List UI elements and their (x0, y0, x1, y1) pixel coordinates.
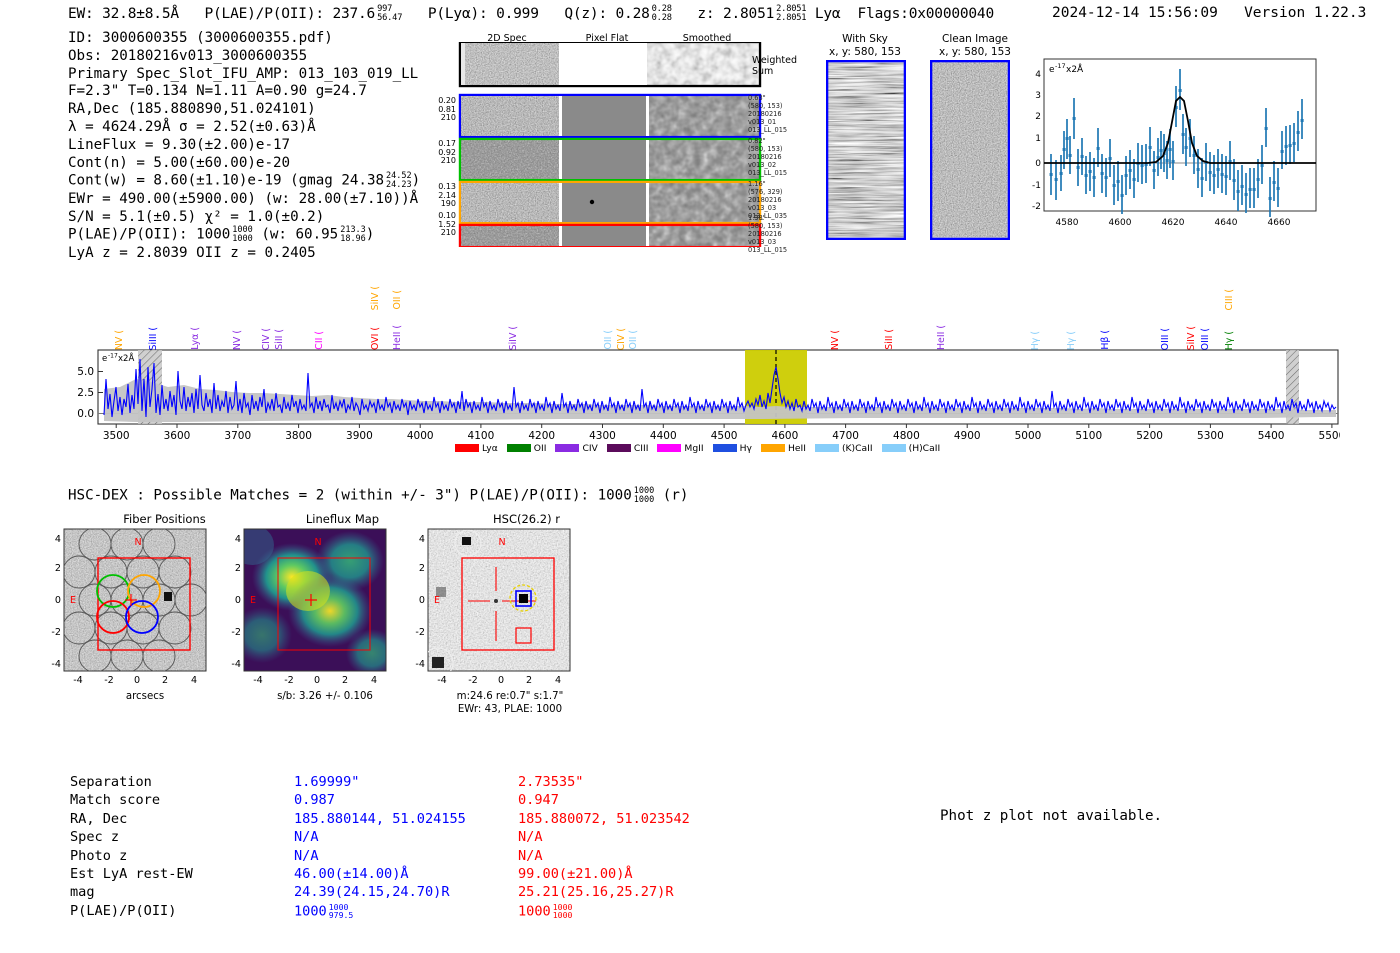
spectrum-xtick: 3800 (285, 430, 312, 442)
info-radec: RA,Dec (185.880890,51.024101) (68, 101, 420, 119)
svg-text:e: e (102, 354, 107, 364)
hsc-r-caption: m:24.6 re:0.7" s:1.7" EWr: 43, PLAE: 100… (415, 690, 605, 716)
hsc-dex-heading: HSC-DEX : Possible Matches = 2 (within +… (68, 487, 688, 504)
match-cell: 24.39(24.15,24.70)R (294, 884, 516, 900)
match-cell: 185.880144, 51.024155 (294, 811, 516, 827)
spectrum-xtick: 4600 (772, 430, 799, 442)
svg-text:-4: -4 (437, 675, 447, 685)
spectrum-xtick: 3500 (103, 430, 130, 442)
svg-text:2: 2 (162, 675, 168, 685)
emission-line-label: SiII ( (274, 329, 285, 350)
spectrum-xtick: 3700 (224, 430, 251, 442)
svg-text:0: 0 (134, 675, 140, 685)
spectrum-xtick: 4900 (954, 430, 981, 442)
cutout-clean-image (930, 60, 1010, 240)
table-row: mag24.39(24.15,24.70)R25.21(25.16,25.27)… (70, 884, 690, 900)
legend-item: Hγ (713, 443, 752, 454)
info-cont-w-text: Cont(w) = 8.60(±1.10)e-19 (gmag 24.38 (68, 173, 384, 189)
hsc-n-label: N (498, 537, 505, 548)
svg-text:4620: 4620 (1162, 218, 1185, 228)
svg-text:2: 2 (1035, 112, 1041, 122)
legend-label: (H)CaII (909, 443, 941, 454)
strip-right-labels-0: 0.63" (580, 153) 20180216 v013_01 013_LL… (748, 94, 787, 134)
legend-item: OII (507, 443, 547, 454)
header-plae-value: 237.6 (332, 6, 375, 22)
match-row-label: Separation (70, 774, 292, 790)
spectrum-xtick: 5100 (1075, 430, 1102, 442)
legend-label: CIV (582, 443, 597, 454)
svg-text:-4: -4 (73, 675, 83, 685)
spectrum-xtick: 4200 (528, 430, 555, 442)
info-ewr: EWr = 490.00(±5900.00) (w: 28.00(±7.10))… (68, 191, 420, 209)
match-cell: 25.21(25.16,25.27)R (518, 884, 690, 900)
match-plae-range: 1000979.5 (329, 903, 354, 920)
header-plae-label: P(LAE)/P(OII): (204, 6, 323, 22)
spectrum-xtick: 5300 (1197, 430, 1224, 442)
svg-text:4: 4 (191, 675, 197, 685)
svg-text:0: 0 (1035, 159, 1041, 169)
full-spectrum-plot: e -17 x2Å 5.02.50.0 35003600370038003900… (60, 349, 1340, 449)
strip-row-0 (460, 95, 760, 137)
match-cell: N/A (518, 829, 690, 845)
header-plae-lo: 56.47 (377, 13, 402, 23)
lineflux-map-panel: N E 420 -2-4 -4-20 24 (222, 525, 422, 685)
emission-line-label: SiIV ( (1186, 326, 1197, 350)
info-plae-prefix: P(LAE)/P(OII): 1000 (68, 227, 230, 243)
legend-label: MgII (684, 443, 703, 454)
hsc-r-image-panel: N E 420 -2-4 -4-20 24 (406, 525, 606, 685)
svg-text:0.0: 0.0 (77, 408, 94, 420)
svg-text:-2: -2 (104, 675, 114, 685)
lineflux-map-caption: s/b: 3.26 +/- 0.106 (230, 690, 420, 703)
info-id: ID: 3000600355 (3000600355.pdf) (68, 30, 420, 48)
fiber-n-label: N (134, 537, 141, 548)
svg-text:-17: -17 (1055, 62, 1066, 70)
strip-left-labels-2: 0.13 2.14 190 (418, 183, 456, 209)
svg-text:x2Å: x2Å (1066, 63, 1084, 75)
legend-swatch (882, 444, 906, 452)
spectrum-xtick: 5400 (1258, 430, 1285, 442)
match-cell: 0.947 (518, 792, 690, 808)
spectrum-xtick: 5500 (1319, 430, 1340, 442)
table-row: Est LyA rest-EW46.00(±14.00)Å99.00(±21.0… (70, 866, 690, 882)
info-plae-suffix: ) (366, 227, 375, 243)
info-lineflux: LineFlux = 9.30(±2.00)e-17 (68, 137, 420, 155)
info-cont-n: Cont(n) = 5.00(±60.00)e-20 (68, 155, 420, 173)
svg-text:0: 0 (235, 595, 241, 606)
emission-line-label: Hγ ( (1224, 331, 1235, 350)
legend-item: MgII (657, 443, 703, 454)
panel-title-fiber-positions: Fiber Positions (62, 512, 267, 526)
hsc-e-label: E (434, 595, 440, 606)
match-plae-value: 1000 (294, 903, 327, 919)
match-row-label: Est LyA rest-EW (70, 866, 292, 882)
match-cell: 10001000979.5 (294, 903, 516, 920)
legend-label: CIII (634, 443, 649, 454)
fiber-e-label: E (70, 595, 76, 606)
emission-line-label: HeII ( (392, 325, 403, 350)
strip-right-labels-1: 0.82" (580, 153) 20180216 v013_02 013_LL… (748, 137, 787, 177)
strip-row-3 (460, 225, 760, 247)
legend-item: (H)CaII (882, 443, 941, 454)
emission-line-label: Lyα ( (190, 327, 201, 350)
info-redshifts: LyA z = 2.8039 OII z = 0.2405 (68, 245, 420, 263)
weighted-sum-label: Weighted Sum (752, 55, 797, 77)
table-row: Separation1.69999"2.73535" (70, 774, 690, 790)
header-plya: P(Lyα): 0.999 (428, 6, 539, 22)
legend-label: Hγ (740, 443, 752, 454)
table-row: Photo zN/AN/A (70, 848, 690, 864)
photz-plot-message: Phot z plot not available. (940, 808, 1162, 824)
fiber-positions-caption: arcsecs (50, 690, 240, 703)
weighted-sum-line1: Weighted (752, 55, 797, 66)
spectrum-xtick: 4000 (407, 430, 434, 442)
match-cell: N/A (294, 829, 516, 845)
header-qz-value: 0.28 (616, 6, 650, 22)
emission-line-label: NV ( (830, 330, 841, 350)
info-cont-w-lo: 24.23 (386, 180, 412, 190)
emission-line-label: Hγ ( (1066, 331, 1077, 350)
match-row-label: Spec z (70, 829, 292, 845)
match-cell: 2.73535" (518, 774, 690, 790)
svg-text:0: 0 (55, 595, 61, 606)
legend-swatch (713, 444, 737, 452)
match-row-label: P(LAE)/P(OII) (70, 903, 292, 920)
strip-left-labels-0: 0.20 0.81 210 (418, 97, 456, 123)
hsc-heading-lo: 1000 (634, 495, 654, 505)
emission-line-label: OIII ( (1200, 328, 1211, 350)
legend-swatch (555, 444, 579, 452)
match-row-label: Photo z (70, 848, 292, 864)
match-cell: 185.880072, 51.023542 (518, 811, 690, 827)
svg-text:4: 4 (55, 534, 61, 545)
spectrum-xtick: 4300 (589, 430, 616, 442)
emission-line-label: HeII ( (936, 325, 947, 350)
emission-line-label: SiIII ( (148, 327, 159, 351)
match-cell: 46.00(±14.00)Å (294, 866, 516, 882)
legend-item: CIV (555, 443, 597, 454)
emission-line-label: OII ( (628, 330, 639, 350)
emission-line-label: SiIV ( (370, 286, 381, 310)
match-cell: N/A (518, 848, 690, 864)
emission-line-label: OIII ( (1160, 328, 1171, 350)
svg-text:-17: -17 (108, 353, 118, 360)
svg-text:3: 3 (1035, 91, 1041, 101)
cutout-title-clean-image: Clean Image x, y: 580, 153 (925, 33, 1025, 58)
svg-text:0: 0 (314, 675, 320, 685)
legend-label: HeII (788, 443, 806, 454)
info-plae-mid: (w: 60.95 (261, 227, 338, 243)
fiber-positions-panel: N E 420 -2-4 -4-20 24 (42, 525, 242, 685)
source-info-block: ID: 3000600355 (3000600355.pdf) Obs: 201… (68, 30, 420, 263)
panel-title-lineflux-map: Lineflux Map (240, 512, 445, 526)
header-qz-label: Q(z): (564, 6, 607, 22)
spectrum-xtick: 4800 (893, 430, 920, 442)
strip-row-weighted-sum (460, 42, 760, 86)
svg-text:2: 2 (526, 675, 532, 685)
svg-text:-2: -2 (1032, 202, 1041, 212)
svg-text:0: 0 (419, 595, 425, 606)
info-sn: S/N = 5.1(±0.5) χ² = 1.0(±0.2) (68, 209, 420, 227)
emission-line-label: OVI ( (370, 327, 381, 350)
legend-label: Lyα (482, 443, 498, 454)
svg-text:2: 2 (235, 563, 241, 574)
spectrum-xtick: 3900 (346, 430, 373, 442)
emission-line-legend: LyαOIICIVCIIIMgIIHγHeII(K)CaII(H)CaII (455, 443, 940, 454)
svg-text:-1: -1 (1032, 181, 1041, 191)
match-row-label: mag (70, 884, 292, 900)
info-cont-w: Cont(w) = 8.60(±1.10)e-19 (gmag 24.3824.… (68, 172, 420, 190)
match-cell: 0.987 (294, 792, 516, 808)
spectrum-xtick: 3600 (164, 430, 191, 442)
svg-text:0: 0 (498, 675, 504, 685)
svg-text:-2: -2 (231, 627, 241, 638)
svg-text:x2Å: x2Å (118, 352, 134, 364)
match-table: Separation1.69999"2.73535"Match score0.9… (68, 772, 692, 922)
header-flags: Flags:0x00000040 (858, 6, 994, 22)
legend-swatch (455, 444, 479, 452)
strip-left-labels-3: 0.10 1.52 210 (418, 212, 456, 238)
emission-line-label: CII ( (314, 331, 325, 350)
info-plae: P(LAE)/P(OII): 100010001000 (w: 60.95213… (68, 226, 420, 244)
lineflux-n-label: N (314, 537, 321, 548)
header-qz-lo: 0.28 (652, 13, 672, 23)
match-plae-range: 10001000 (553, 903, 573, 920)
svg-text:-4: -4 (415, 659, 425, 670)
header-ew: EW: 32.8±8.5Å (68, 6, 179, 22)
emission-line-label: NV ( (232, 330, 243, 350)
legend-item: CIII (607, 443, 649, 454)
svg-text:5.0: 5.0 (77, 366, 94, 378)
spectrum-xtick: 4500 (711, 430, 738, 442)
header-z-label: z: (697, 6, 714, 22)
svg-text:4: 4 (1035, 70, 1041, 80)
header-summary-line: EW: 32.8±8.5Å P(LAE)/P(OII): 237.699756.… (68, 5, 994, 23)
zoom-spectrum-plot: e -17 x2Å 432 10-1-2 458046004620 464046… (1030, 55, 1330, 255)
legend-item: (K)CaII (815, 443, 873, 454)
header-timestamp-version: 2024-12-14 15:56:09 Version 1.22.3 (1052, 5, 1366, 21)
emission-line-label: Hβ ( (1100, 330, 1111, 350)
svg-text:4: 4 (419, 534, 425, 545)
table-row: Spec zN/AN/A (70, 829, 690, 845)
header-z-lo: 2.8051 (776, 13, 806, 23)
svg-text:2: 2 (55, 563, 61, 574)
emission-line-label: OII ( (392, 290, 403, 310)
spectrum-xtick: 4400 (650, 430, 677, 442)
match-cell: 99.00(±21.00)Å (518, 866, 690, 882)
emission-line-label: CIV ( (261, 328, 272, 350)
svg-text:4: 4 (235, 534, 241, 545)
emission-line-label: SiIV ( (508, 326, 519, 350)
svg-text:2: 2 (419, 563, 425, 574)
weighted-sum-line2: Sum (752, 66, 797, 77)
svg-text:-4: -4 (231, 659, 241, 670)
svg-text:4640: 4640 (1215, 218, 1238, 228)
strip-right-labels-3: 1.38" (580, 153) 20180216 v013_03 013_LL… (748, 214, 787, 254)
cutout-with-sky-image (826, 60, 906, 240)
legend-swatch (507, 444, 531, 452)
legend-item: HeII (761, 443, 806, 454)
svg-text:-4: -4 (253, 675, 263, 685)
legend-label: OII (534, 443, 547, 454)
hsc-heading-suffix: (r) (663, 488, 689, 504)
info-seeing: F=2.3" T=0.134 N=1.11 A=0.90 g=24.7 (68, 83, 420, 101)
svg-text:4: 4 (555, 675, 561, 685)
match-cell: N/A (294, 848, 516, 864)
header-z-type: Lyα (815, 6, 841, 22)
info-lambda: λ = 4624.29Å σ = 2.52(±0.63)Å (68, 119, 420, 137)
strip-left-labels-1: 0.17 0.92 210 (418, 140, 456, 166)
match-cell: 1.69999" (294, 774, 516, 790)
spectrum-xtick: 5200 (1136, 430, 1163, 442)
svg-text:4660: 4660 (1268, 218, 1291, 228)
match-row-label: Match score (70, 792, 292, 808)
spectrum-xtick: 4100 (468, 430, 495, 442)
legend-swatch (761, 444, 785, 452)
legend-label: (K)CaII (842, 443, 873, 454)
legend-swatch (815, 444, 839, 452)
svg-text:-2: -2 (51, 627, 61, 638)
info-plae-w-lo: 18.96 (340, 234, 366, 244)
emission-line-label: CIII ( (1224, 289, 1235, 310)
match-row-label: RA, Dec (70, 811, 292, 827)
lineflux-e-label: E (250, 595, 256, 606)
table-row: P(LAE)/P(OII)10001000979.5100010001000 (70, 903, 690, 920)
emission-line-label: CIV ( (616, 328, 627, 350)
header-z-value: 2.8051 (723, 6, 774, 22)
legend-item: Lyα (455, 443, 498, 454)
emission-line-label: Hγ ( (1030, 331, 1041, 350)
match-cell: 100010001000 (518, 903, 690, 920)
cutout-title-with-sky: With Sky x, y: 580, 153 (820, 33, 910, 58)
header-version: Version 1.22.3 (1244, 5, 1366, 21)
spectrum-xtick: 5000 (1015, 430, 1042, 442)
legend-swatch (657, 444, 681, 452)
panel-title-hsc-r: HSC(26.2) r (424, 512, 629, 526)
header-datetime: 2024-12-14 15:56:09 (1052, 5, 1218, 21)
emission-line-label: NV ( (114, 330, 125, 350)
emission-line-labels: NV (SiIII (Lyα (NV (CIV (SiII (CII (OVI … (0, 278, 1400, 350)
svg-text:-2: -2 (468, 675, 478, 685)
hsc-heading-prefix: HSC-DEX : Possible Matches = 2 (within +… (68, 488, 632, 504)
strip-row-1 (460, 139, 760, 180)
table-row: Match score0.9870.947 (70, 792, 690, 808)
info-plae-lo: 1000 (232, 234, 252, 244)
legend-swatch (607, 444, 631, 452)
svg-text:4600: 4600 (1109, 218, 1132, 228)
info-obs: Obs: 20180216v013_3000600355 (68, 48, 420, 66)
strip-row-2 (460, 182, 760, 223)
svg-text:-2: -2 (284, 675, 294, 685)
table-row: RA, Dec185.880144, 51.024155185.880072, … (70, 811, 690, 827)
svg-text:4: 4 (371, 675, 377, 685)
spectrum-xtick: 4700 (832, 430, 859, 442)
svg-text:-2: -2 (415, 627, 425, 638)
svg-text:4580: 4580 (1056, 218, 1079, 228)
match-plae-value: 1000 (518, 903, 551, 919)
emission-line-label: SiII ( (884, 329, 895, 350)
svg-text:-4: -4 (51, 659, 61, 670)
info-spec-slot: Primary Spec_Slot_IFU_AMP: 013_103_019_L… (68, 66, 420, 84)
emission-line-label: OII ( (603, 330, 614, 350)
svg-text:2.5: 2.5 (77, 387, 94, 399)
svg-text:1: 1 (1035, 134, 1041, 144)
svg-text:2: 2 (342, 675, 348, 685)
